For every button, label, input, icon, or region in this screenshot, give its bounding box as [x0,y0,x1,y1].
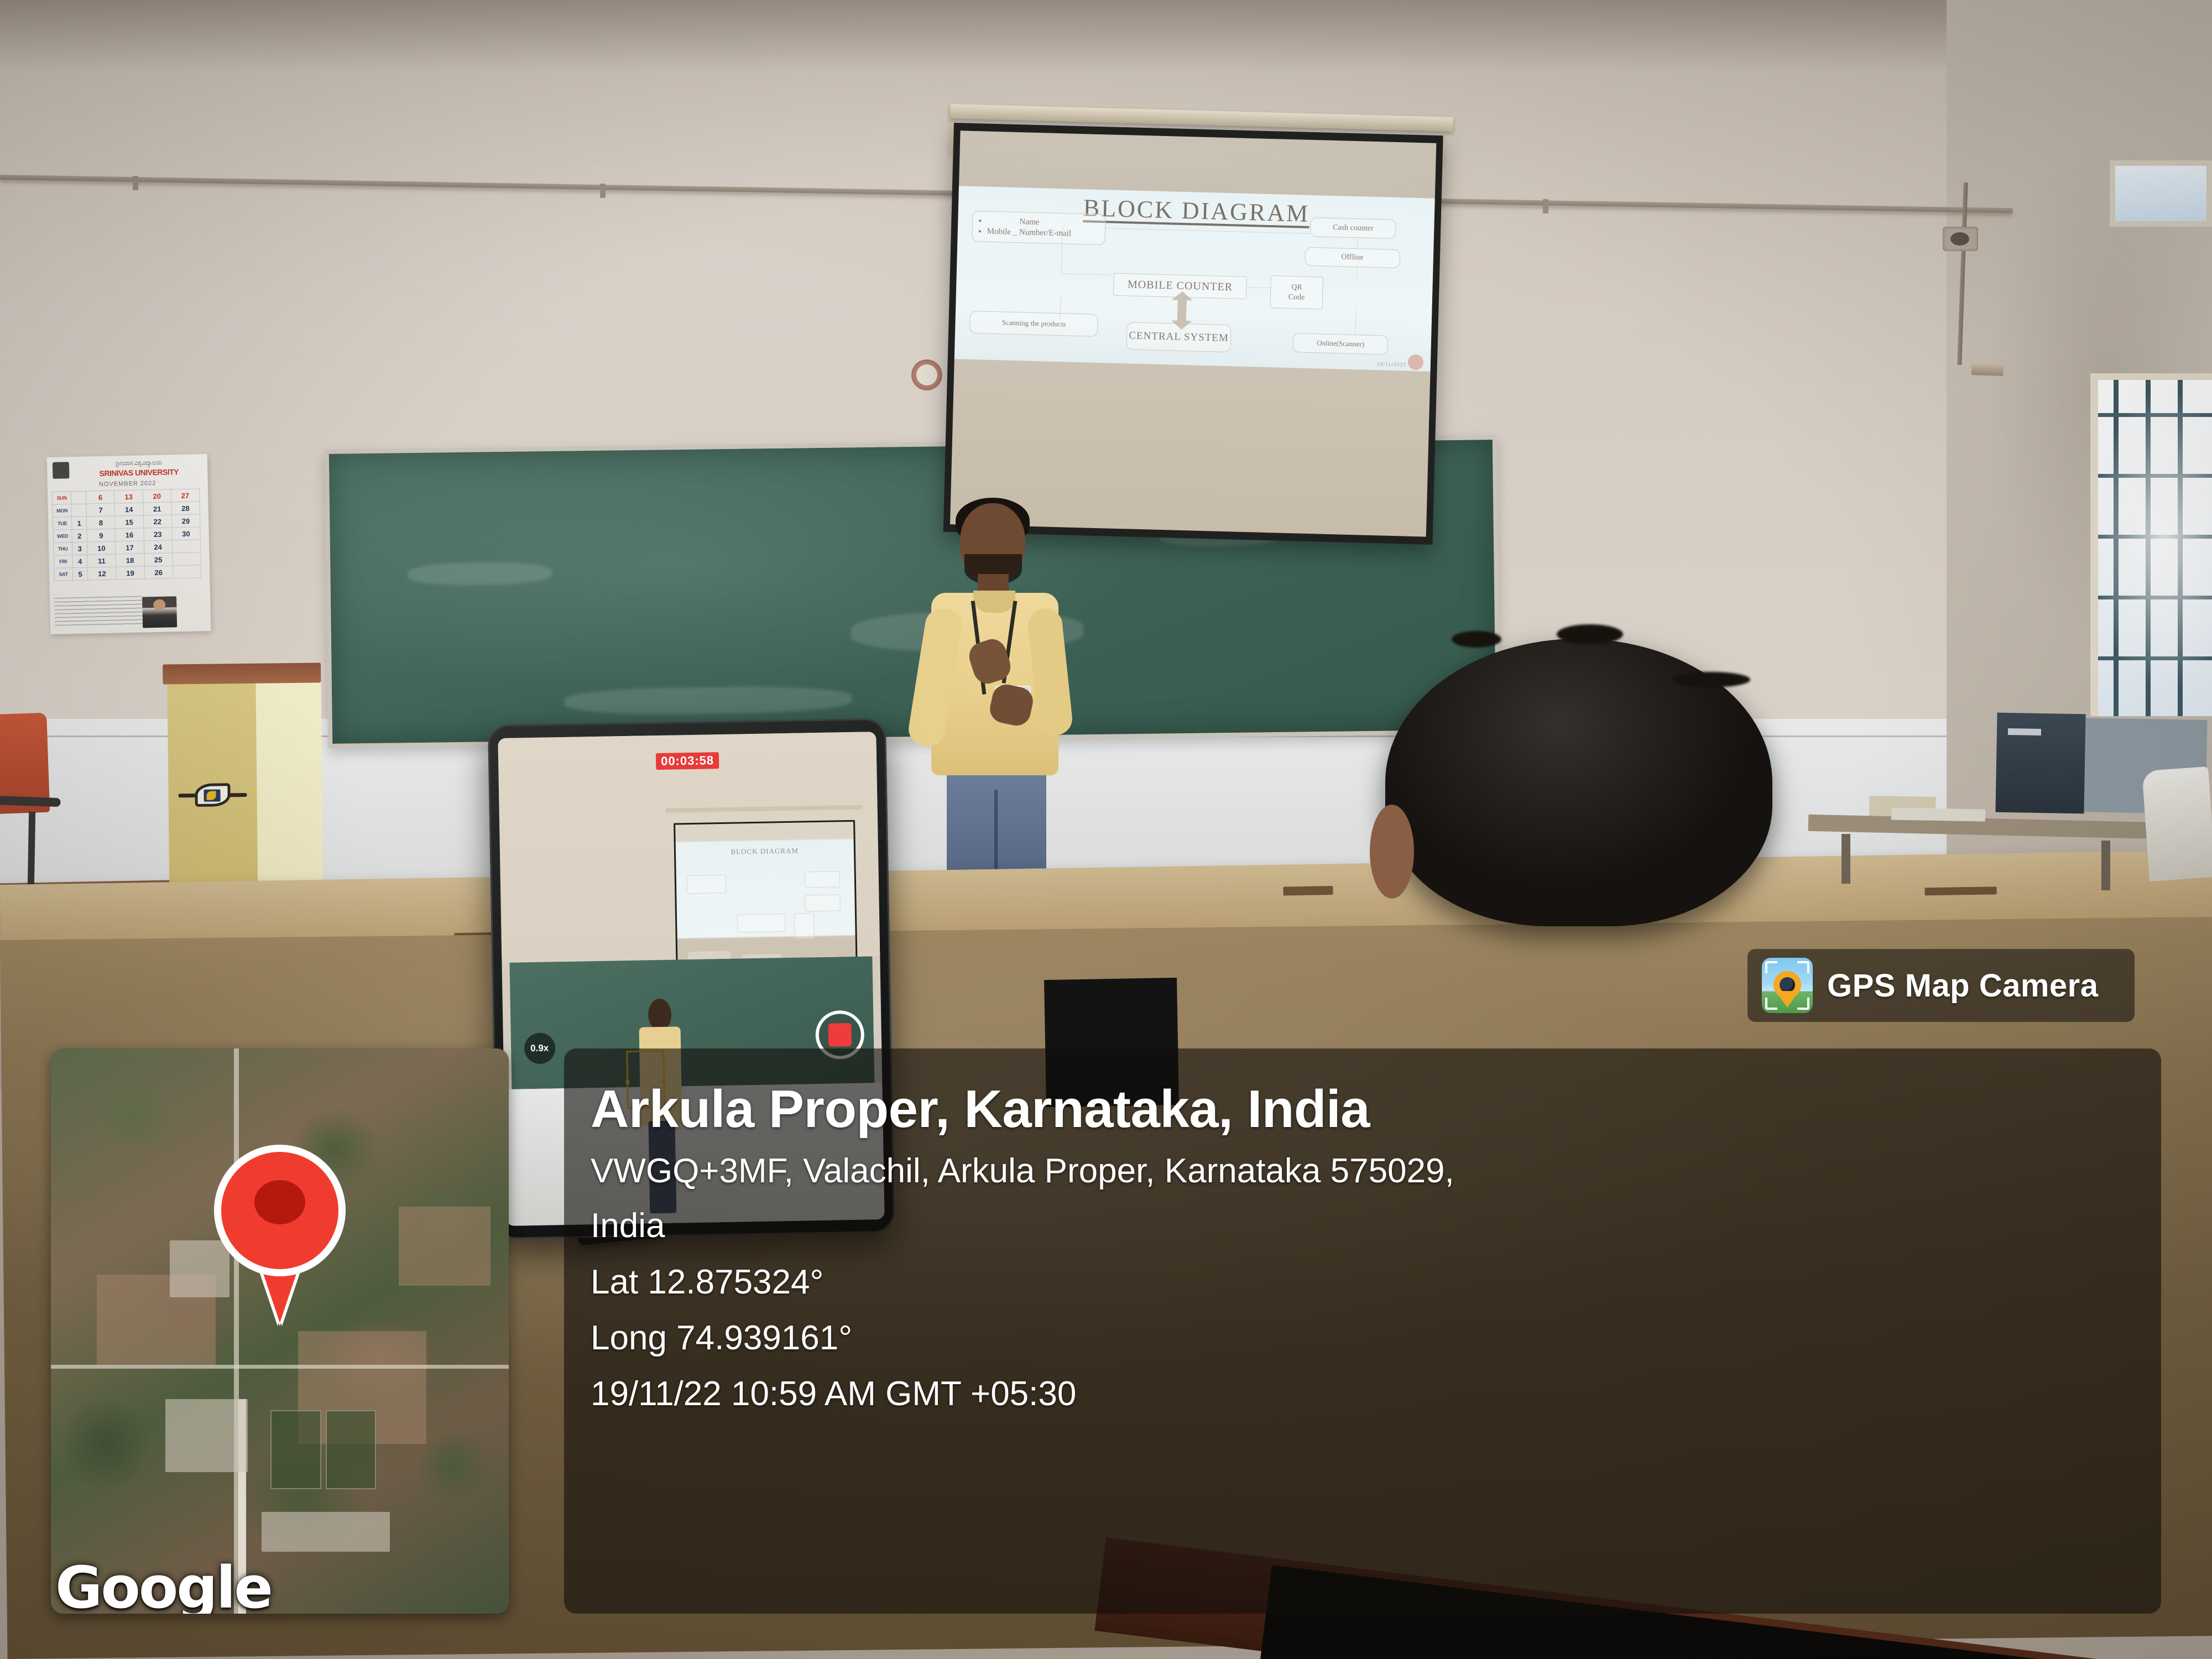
location-info-panel: Arkula Proper, Karnataka, India VWGQ+3MF… [564,1048,2161,1614]
chalk-smudge [408,562,551,586]
slide-connector [1105,228,1310,234]
calendar-date-cell: 20 [143,489,171,503]
location-latitude: Lat 12.875324° [591,1260,2139,1304]
calendar-date-cell: 22 [143,515,172,528]
slide-block-online-scanner: Online(Scanner) [1293,333,1389,354]
calendar-day-label: SAT [54,568,72,581]
university-logo-icon [53,462,70,479]
calendar-date-cell: 3 [72,542,87,555]
location-timestamp: 19/11/22 10:59 AM GMT +05:30 [591,1372,2139,1416]
calendar-date-cell: 27 [171,489,200,502]
location-title: Arkula Proper, Karnataka, India [591,1083,2139,1136]
slide-corner-dot [1408,354,1424,371]
map-building [165,1399,248,1473]
barred-window [2090,373,2212,716]
calendar-date-cell: 11 [87,554,116,567]
calendar-day-label: SUN [52,492,71,505]
calendar-date-cell: 4 [72,555,88,568]
conduit-clip [1543,199,1548,213]
chair-leg [28,812,36,895]
calendar-date-cell: 26 [144,566,173,579]
calendar-date-cell: 16 [115,528,144,541]
conduit-junction-box [1943,227,1978,251]
slide-block-offline: Offline [1305,247,1400,268]
calendar-portrait-photo [142,596,177,628]
calendar-date-cell [172,552,201,566]
map-land-parcel [399,1207,491,1286]
stage-chip [1283,886,1333,895]
calendar-day-label: WED [53,530,72,543]
window-bar [2178,380,2183,716]
map-sports-field [270,1410,321,1489]
calendar-date-cell [173,565,201,578]
wall-clock [911,359,942,390]
calendar-date-cell: 21 [143,502,171,515]
recording-timer: 00:03:58 [656,752,719,770]
calendar-date-cell: 28 [171,502,200,515]
slide-block-cash-counter: Cash counter [1310,217,1396,238]
calendar-date-cell: 23 [143,528,172,541]
calendar-date-cell: 25 [144,553,173,566]
gps-camera-pin-icon [1762,958,1813,1013]
wall-calendar: ಶ್ರೀನಿವಾಸ ವಿಶ್ವವಿದ್ಯಾಲಯ SRINIVAS UNIVERS… [47,454,211,634]
calendar-date-cell: 5 [72,567,88,581]
presentation-slide: BLOCK DIAGRAM Name Mobile _ Number/E-mai… [954,186,1435,372]
projector-screen: BLOCK DIAGRAM Name Mobile _ Number/E-mai… [943,123,1443,545]
slide-bullet-mobile: Mobile _ Number/E-mail [987,226,1071,239]
wall-switch-plate [1971,363,2004,376]
stage-chip [1925,886,1997,895]
calendar-date-cell: 24 [144,540,173,554]
location-address-line-2: India [591,1204,2139,1248]
map-pin-center-dot [254,1180,305,1224]
hair-wisp [1557,624,1623,644]
calendar-date-cell: 10 [87,541,116,555]
calendar-date-cell: 7 [86,503,115,517]
window-bar [2098,535,2212,539]
calendar-date-cell [71,491,86,504]
slide-date-stamp: 19/11/2022 [1376,361,1407,367]
calendar-date-cell: 9 [87,529,116,542]
google-watermark: Google [55,1554,272,1614]
calendar-date-cell: 2 [72,529,87,542]
gps-map-camera-label: GPS Map Camera [1827,967,2099,1004]
calendar-day-label: THU [53,542,72,556]
bench-leg [2101,841,2110,890]
calendar-date-cell: 17 [116,541,144,554]
gps-map-camera-watermark: GPS Map Camera [1747,949,2135,1022]
calendar-date-cell [71,504,87,517]
calendar-date-cell: 18 [116,554,144,567]
emblem-logo [204,789,220,801]
viewfinder-slide-block [687,875,726,894]
calendar-date-cell: 19 [116,566,145,580]
calendar-date-cell [172,540,201,553]
conduit-clip [133,176,138,190]
calendar-footer-text [54,596,143,628]
location-longitude: Long 74.939161° [591,1316,2139,1360]
bracket-icon [1797,961,1809,973]
window-bar [2146,380,2151,716]
foreground-audience-head [1385,639,1772,926]
window-bar [2114,380,2119,716]
window-bar [2098,596,2212,599]
paper-stack [1891,808,1985,822]
seated-person-right [2142,766,2212,881]
slide-block-scanning: Scanning the products [969,311,1098,337]
calendar-date-cell: 14 [114,503,143,516]
calendar-day-label: TUE [53,517,71,530]
calendar-week-row: SAT5121926 [54,565,201,581]
window-bar [2098,474,2212,478]
calendar-footer [54,594,206,632]
bench-leg [1841,834,1850,884]
viewfinder-slide-block [794,913,814,939]
computer-tower [1995,713,2085,814]
calendar-university-name: SRINIVAS UNIVERSITY [72,467,205,478]
slide-connector [1357,267,1358,279]
bracket-icon [1797,998,1809,1010]
calendar-date-cell: 12 [88,567,117,580]
calendar-date-cell: 29 [171,514,200,528]
calendar-month-label: NOVEMBER 2022 [48,479,208,489]
viewfinder-slide-block [805,895,841,912]
calendar-day-label: MON [53,504,71,518]
presenter-collar [973,591,1015,613]
slide-connector [1355,311,1356,335]
map-road [51,1365,509,1369]
map-building [262,1512,390,1552]
calendar-date-cell: 13 [114,490,143,503]
hair-wisp [1673,672,1750,687]
slide-block-qr-code: QR Code [1270,275,1323,310]
hair-wisp [1452,631,1501,648]
viewfinder-slide-block [804,871,840,888]
photo-canvas: ಶ್ರೀನಿವಾಸ ವಿಶ್ವವಿದ್ಯಾಲಯ SRINIVAS UNIVERS… [0,0,2212,1659]
map-pin-icon [214,1145,346,1322]
slide-block-inputs: Name Mobile _ Number/E-mail [972,210,1105,245]
ceiling-shadow [0,0,2212,72]
calendar-date-cell: 1 [71,517,87,530]
stop-record-icon [828,1023,852,1047]
clerestory-window [2110,160,2212,227]
podium-emblem-icon [178,782,247,808]
slide-connector [1061,273,1114,275]
chalk-smudge [564,685,852,715]
bracket-icon [1765,961,1777,973]
location-address-line-1: VWGQ+3MF, Valachil, Arkula Proper, Karna… [591,1149,1962,1193]
slide-bidirectional-arrow-icon [1177,299,1187,322]
podium-top-surface [163,663,321,685]
viewfinder-slide-block [737,914,786,932]
slide-connector [1358,238,1358,248]
calendar-date-cell: 6 [86,491,115,504]
conduit-clip [600,184,606,198]
calendar-date-cell: 8 [87,516,116,529]
zoom-level-badge[interactable]: 0.9x [524,1032,555,1064]
calendar-date-cell: 30 [172,527,201,540]
viewfinder-slide-title: BLOCK DIAGRAM [676,845,854,857]
map-sports-field [326,1410,376,1489]
slide-connector [1247,287,1271,288]
pin-tip-icon [1776,991,1799,1008]
window-bar [2098,656,2212,660]
projector-screen-canvas: BLOCK DIAGRAM Name Mobile _ Number/E-mai… [950,131,1436,536]
map-thumbnail[interactable]: Google [51,1048,509,1614]
window-bar [2098,413,2212,417]
classroom-chair [0,712,75,902]
calendar-day-label: FRI [54,555,72,568]
calendar-grid: SUN6132027MON7142128TUE18152229WED291623… [52,488,201,581]
calendar-date-cell: 15 [115,515,144,529]
